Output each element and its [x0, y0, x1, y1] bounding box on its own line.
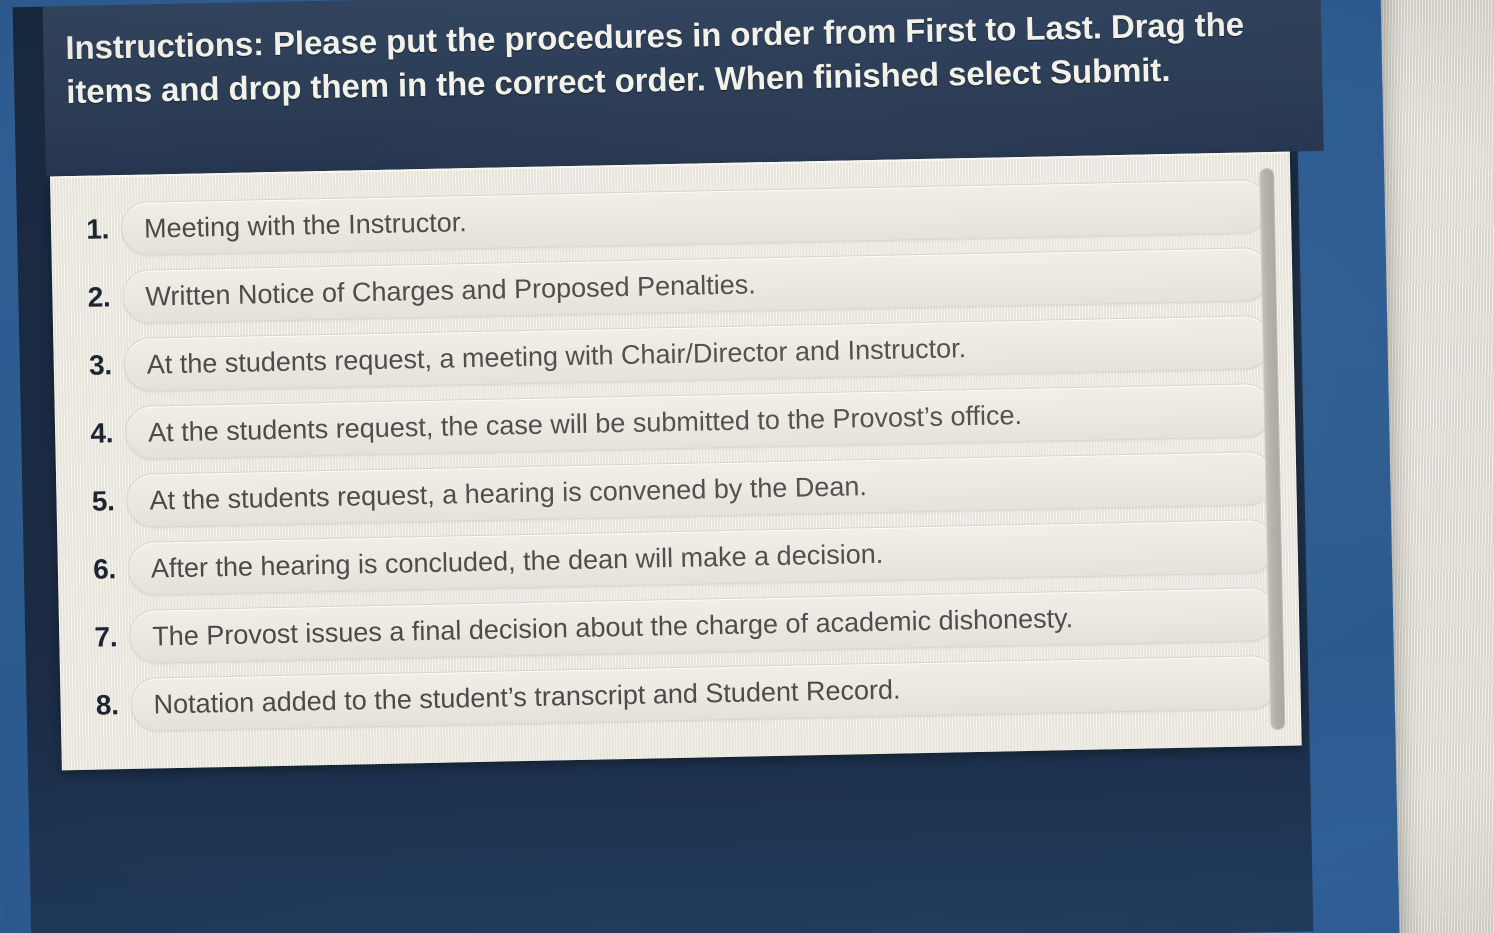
item-number: 2. [70, 281, 123, 314]
instructions-final-period: . [1161, 51, 1171, 88]
instructions-submit-word: Submit [1050, 51, 1162, 90]
monitor-screen: Instructions: Please put the procedures … [0, 0, 1400, 933]
instructions-banner: Instructions: Please put the procedures … [43, 0, 1324, 177]
instructions-label: Instructions [65, 25, 253, 66]
ordering-card: 1. Meeting with the Instructor. 2. Writt… [50, 152, 1302, 771]
item-number: 8. [78, 689, 131, 722]
item-number: 7. [77, 621, 130, 654]
item-number: 3. [71, 349, 124, 382]
item-number: 1. [69, 213, 122, 246]
instructions-text-1: Please put the procedures in order from [273, 12, 906, 62]
instructions-separator: : [253, 25, 274, 62]
item-number: 6. [76, 553, 129, 586]
instructions-last-word: Last [1025, 9, 1093, 47]
instructions-text-2: to [976, 10, 1026, 48]
item-number: 4. [73, 417, 126, 450]
instructions-first-word: First [905, 11, 977, 49]
item-number: 5. [74, 485, 127, 518]
quiz-app: Instructions: Please put the procedures … [43, 0, 1340, 933]
ordering-list: 1. Meeting with the Instructor. 2. Writt… [50, 172, 1301, 741]
photo-scene: Instructions: Please put the procedures … [0, 0, 1494, 933]
